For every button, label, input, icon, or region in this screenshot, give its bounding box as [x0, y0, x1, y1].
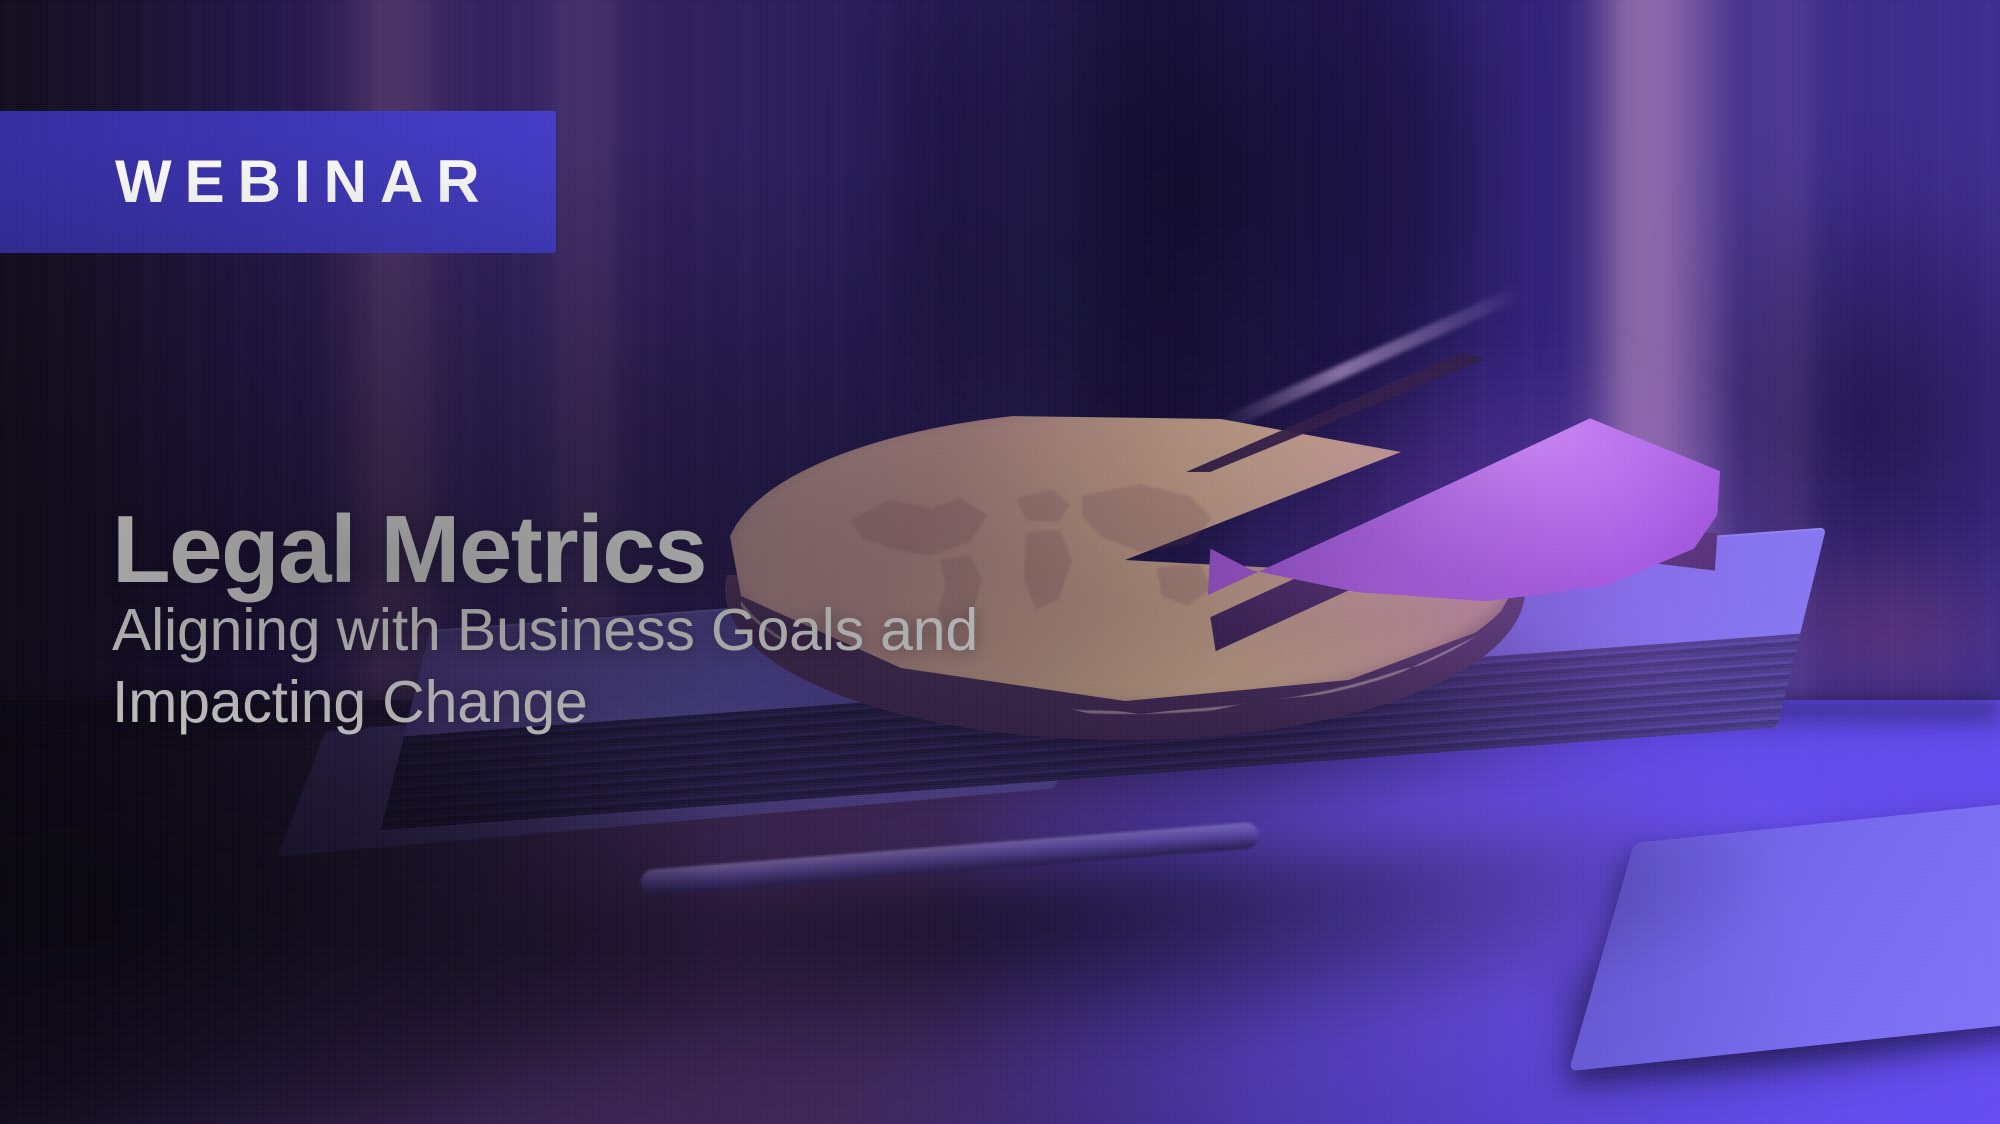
webinar-badge: WEBINAR — [0, 111, 556, 253]
page-subtitle: Aligning with Business Goals and Impacti… — [112, 595, 1292, 739]
page-title: Legal Metrics — [112, 501, 706, 599]
page-subtitle-line-2: Impacting Change — [112, 667, 1292, 739]
desk-left-shadow — [0, 690, 700, 1124]
webinar-badge-label: WEBINAR — [115, 152, 493, 212]
webinar-banner: WEBINAR Legal Metrics Aligning with Busi… — [0, 0, 2000, 1124]
page-subtitle-line-1: Aligning with Business Goals and — [112, 595, 1292, 667]
